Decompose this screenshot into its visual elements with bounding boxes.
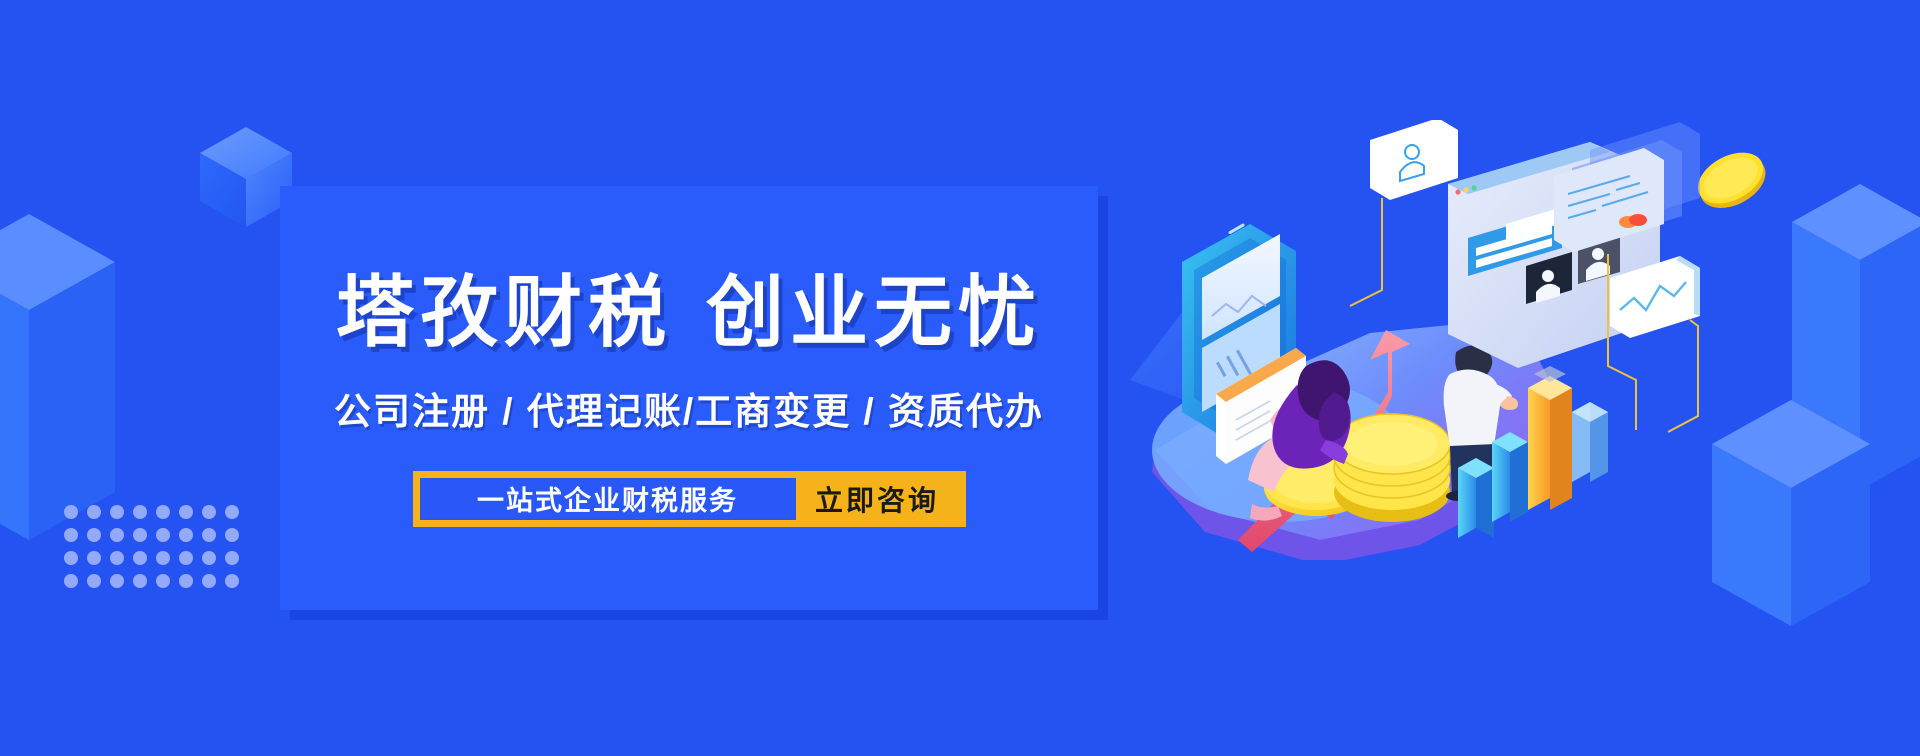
- headline-part1: 塔孜财税: [336, 268, 672, 356]
- cta-bar: 一站式企业财税服务 立即咨询: [413, 471, 966, 527]
- credit-card: [1554, 122, 1700, 252]
- dot-grid: [64, 505, 248, 597]
- headline-part2: 创业无忧: [706, 268, 1042, 356]
- page-title: 塔孜财税创业无忧: [336, 269, 1042, 356]
- profile-card: [1370, 120, 1458, 200]
- coin-float-icon: [1692, 140, 1770, 218]
- consult-now-button[interactable]: 立即咨询: [796, 478, 959, 520]
- copy-block: 塔孜财税创业无忧 公司注册 / 代理记账/工商变更 / 资质代办 一站式企业财税…: [280, 186, 1098, 610]
- subtitle: 公司注册 / 代理记账/工商变更 / 资质代办: [334, 381, 1044, 435]
- cta-tag-label: 一站式企业财税服务: [420, 478, 796, 520]
- block-right-tall-icon: [1790, 182, 1920, 492]
- cube-right-low-icon: [1710, 398, 1872, 628]
- promo-banner: 塔孜财税创业无忧 公司注册 / 代理记账/工商变更 / 资质代办 一站式企业财税…: [0, 0, 1920, 756]
- hero-illustration: [1120, 120, 1700, 560]
- block-left-icon: [0, 212, 117, 542]
